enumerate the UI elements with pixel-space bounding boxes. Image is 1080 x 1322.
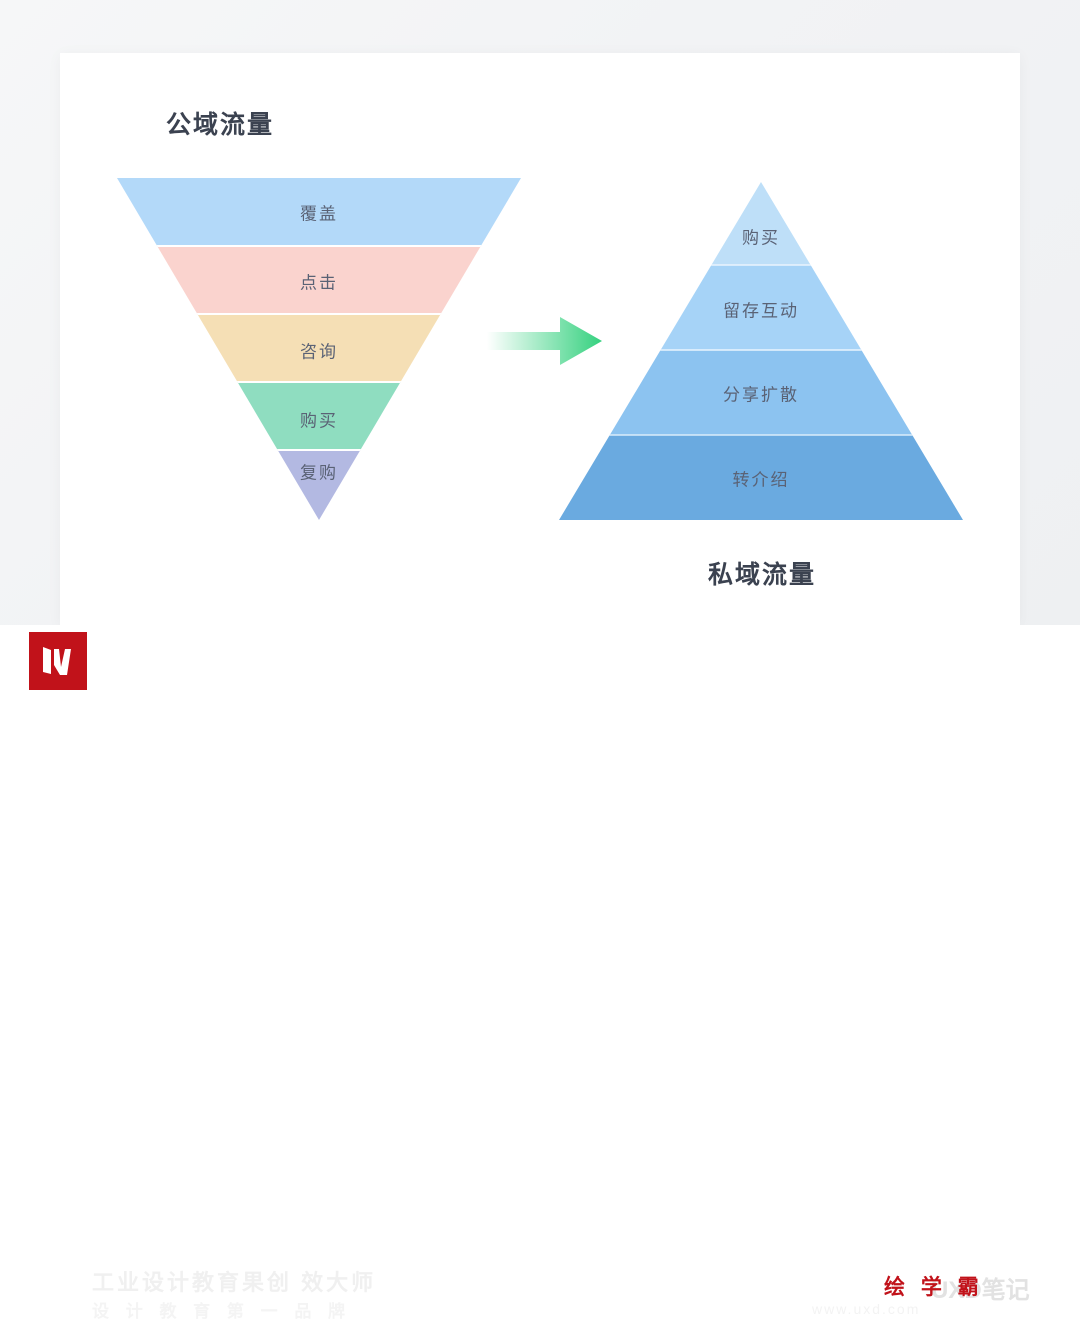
pyramid-band-3 <box>540 350 980 435</box>
pyramid-band-1 <box>540 180 980 265</box>
page-title-private-traffic: 私域流量 <box>560 555 964 591</box>
w-letter-icon <box>38 641 78 681</box>
public-traffic-funnel <box>100 178 540 525</box>
funnel-band-2 <box>100 246 540 314</box>
page-title-public-traffic: 公域流量 <box>0 105 440 141</box>
watermark-left-line2: 设 计 教 育 第 一 品 牌 <box>92 1297 351 1322</box>
huixueba-logo-icon <box>29 632 87 690</box>
watermark-left-line1: 工业设计教育果创 效大师 <box>92 1265 376 1297</box>
funnel-band-5 <box>100 450 540 525</box>
watermark-right-url: www.uxd.com <box>812 1301 920 1317</box>
brand-logo-text: 绘 学 霸 <box>884 1271 984 1301</box>
slide-stage: 公域流量 私域流量 覆盖 点击 咨询 购买 复购 购买 留存互动 分享扩散 转介… <box>0 0 1080 712</box>
private-traffic-pyramid <box>540 180 980 521</box>
funnel-band-1 <box>100 178 540 246</box>
footer-bar: 工业设计教育果创 效大师 设 计 教 育 第 一 品 牌 www.uxd.com… <box>0 625 1080 712</box>
funnel-band-3 <box>100 314 540 382</box>
flow-arrow-icon <box>487 317 602 365</box>
pyramid-band-4 <box>540 435 980 521</box>
pyramid-band-2 <box>540 265 980 350</box>
funnel-band-4 <box>100 382 540 450</box>
